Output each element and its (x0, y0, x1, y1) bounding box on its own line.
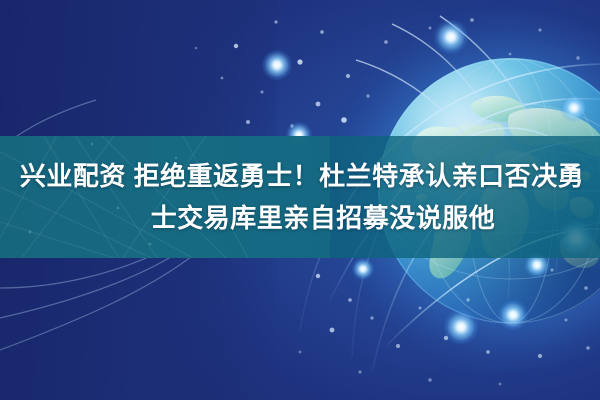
headline-line-1: 兴业配资 拒绝重返勇士！杜兰特承认亲口否决勇 (16, 156, 584, 196)
news-banner: 兴业配资 拒绝重返勇士！杜兰特承认亲口否决勇 士交易库里亲自招募没说服他 (0, 0, 600, 400)
headline-text-block: 兴业配资 拒绝重返勇士！杜兰特承认亲口否决勇 士交易库里亲自招募没说服他 (0, 136, 600, 258)
headline-line-2: 士交易库里亲自招募没说服他 (105, 198, 496, 238)
